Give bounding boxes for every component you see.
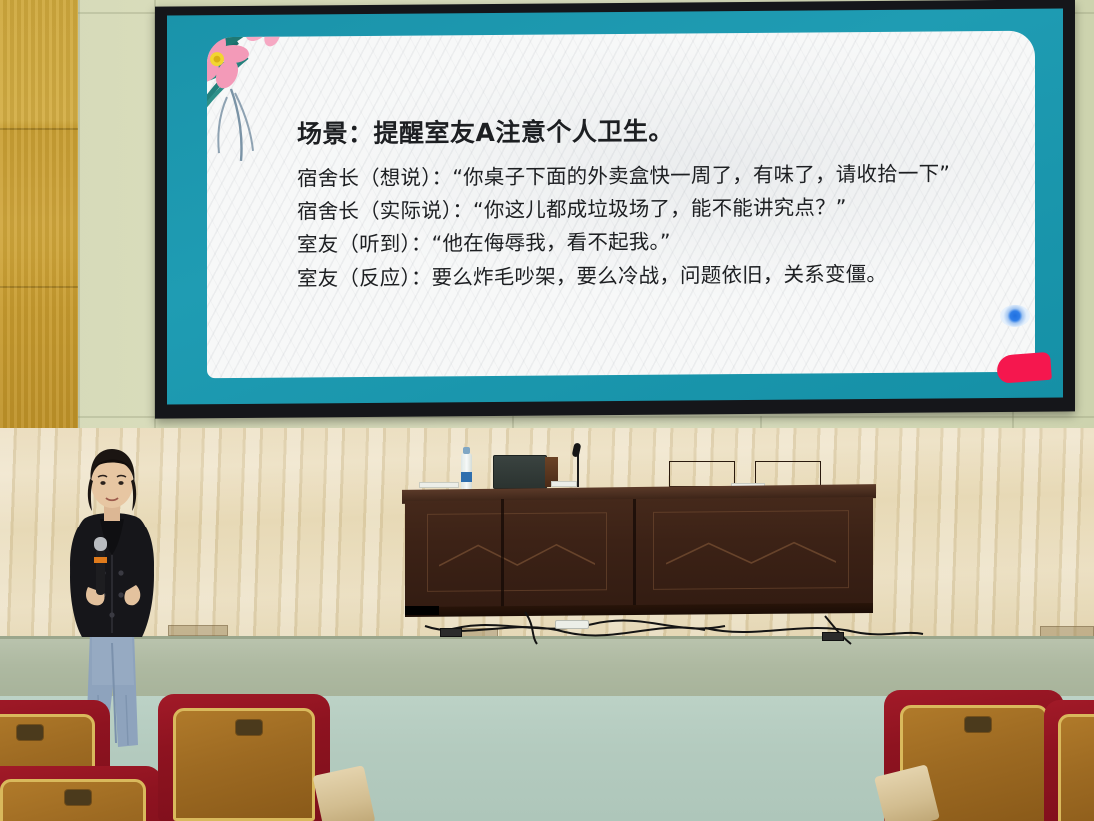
floor-cables [405,606,925,646]
slide-line-dorm-head-thought: 宿舍长（想说）：“你桌子下面的外卖盒快一周了，有味了，请收拾一下” [297,157,1017,196]
desk-papers [419,482,459,488]
floor-cable-box [822,632,844,641]
auditorium-seat[interactable] [158,694,330,821]
red-accent-shape [996,352,1052,384]
floor-cable-box [440,628,462,637]
slide-line-dorm-head-actual: 宿舍长（实际说）：“你这儿都成垃圾场了，能不能讲究点？” [297,190,1017,229]
auditorium-seat[interactable] [0,766,162,821]
conference-desk[interactable] [405,487,873,619]
desk-papers [551,481,577,487]
slide-line-roommate-reaction: 室友（反应）：要么炸毛吵架，要么冷战，问题依旧，关系变僵。 [297,256,1017,295]
lecture-hall-scene: 场景：提醒室友A注意个人卫生。 宿舍长（想说）：“你桌子下面的外卖盒快一周了，有… [0,0,1094,821]
slide-title: 场景：提醒室友A注意个人卫生。 [297,109,1017,151]
desk-seam [633,499,636,607]
nameplate [669,461,735,487]
desk-monitor [493,455,547,489]
gold-wall-panel [0,0,78,430]
power-strip [555,620,589,629]
desk-zigzag-ornament [439,542,596,569]
slide-text-block: 场景：提醒室友A注意个人卫生。 宿舍长（想说）：“你桌子下面的外卖盒快一周了，有… [297,109,1017,295]
desk-seam [501,499,504,607]
auditorium-seat[interactable] [1044,700,1094,821]
slide-line-roommate-heard: 室友（听到）：“他在侮辱我，看不起我。” [297,223,1017,262]
wall-seam [78,0,80,470]
water-bottle [461,453,472,489]
screen-inner-border: 场景：提醒室友A注意个人卫生。 宿舍长（想说）：“你桌子下面的外卖盒快一周了，有… [167,8,1063,404]
desk-front [405,497,873,609]
projection-screen[interactable]: 场景：提醒室友A注意个人卫生。 宿舍长（想说）：“你桌子下面的外卖盒快一周了，有… [155,0,1075,419]
presentation-slide[interactable]: 场景：提醒室友A注意个人卫生。 宿舍长（想说）：“你桌子下面的外卖盒快一周了，有… [207,31,1035,379]
desk-zigzag-ornament [666,540,837,567]
